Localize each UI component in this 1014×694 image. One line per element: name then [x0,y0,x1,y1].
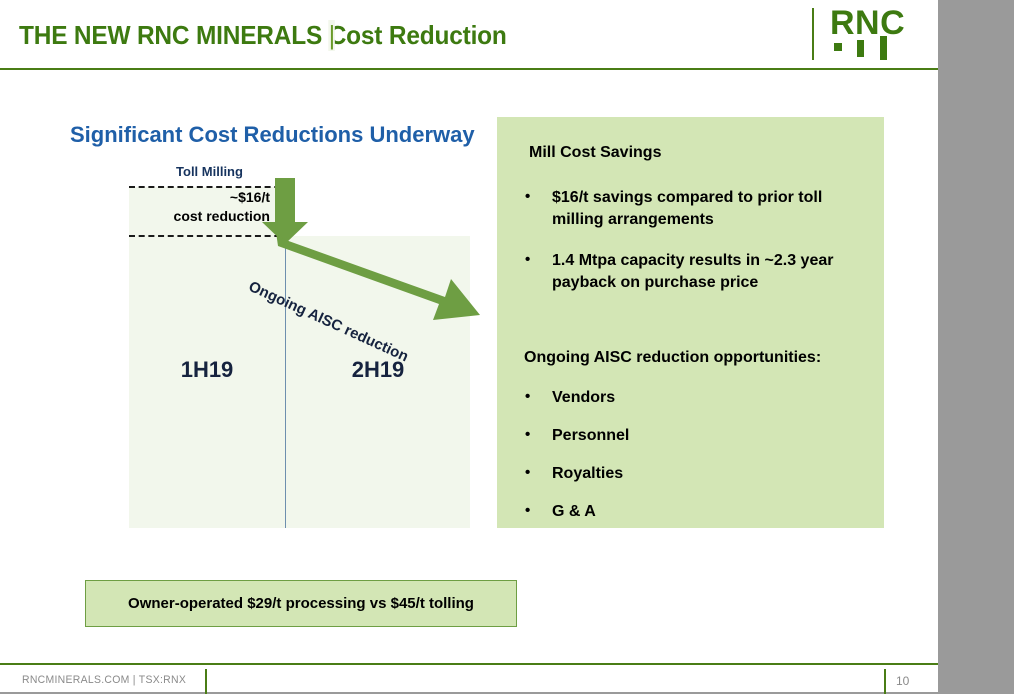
info-panel: Mill Cost Savings • $16/t savings compar… [497,117,884,528]
logo-tick-icon-2 [857,40,864,57]
logo-wordmark: RNC [830,6,905,40]
bullet-marker-icon: • [525,425,552,447]
bullet-marker-icon: • [525,387,552,409]
page-number: 10 [896,674,909,688]
logo-tick-icon-3 [880,36,887,60]
bullet-text: $16/t savings compared to prior toll mil… [552,187,870,231]
bar-label-2h19: 2H19 [286,357,470,383]
bullet-item-personnel: • Personnel [525,425,870,447]
cost-reduction-line-1: ~$16/t [120,188,270,207]
bullet-text: G & A [552,501,596,523]
bullet-item-capacity: • 1.4 Mtpa capacity results in ~2.3 year… [525,250,870,294]
cost-reduction-annotation: ~$16/t cost reduction [120,188,270,226]
logo-tick-icon-1 [834,43,842,51]
cost-reduction-chart: Toll Milling ~$16/t cost reduction Ongoi… [0,0,500,560]
slide: THE NEW RNC MINERALS | Cost Reduction RN… [0,0,938,692]
bullet-item-ga: • G & A [525,501,870,523]
bullet-item-savings: • $16/t savings compared to prior toll m… [525,187,870,231]
footer-divider-right [884,669,886,694]
footer-divider-left [205,669,207,694]
bullet-marker-icon: • [525,501,552,523]
bullet-text: Vendors [552,387,615,409]
bullet-item-vendors: • Vendors [525,387,870,409]
aisc-opportunities-heading: Ongoing AISC reduction opportunities: [524,349,821,367]
bullet-text: 1.4 Mtpa capacity results in ~2.3 year p… [552,250,870,294]
bullet-text: Royalties [552,463,623,485]
bullet-marker-icon: • [525,187,552,231]
mill-cost-savings-heading: Mill Cost Savings [529,144,661,162]
bullet-marker-icon: • [525,250,552,294]
footer-site-text: RNCMINERALS.COM | TSX:RNX [22,674,186,686]
callout-box: Owner-operated $29/t processing vs $45/t… [85,580,517,627]
bar-label-1h19: 1H19 [129,357,285,383]
callout-text: Owner-operated $29/t processing vs $45/t… [128,595,474,612]
toll-milling-label: Toll Milling [129,164,290,179]
slide-footer: RNCMINERALS.COM | TSX:RNX 10 [0,663,938,692]
rnc-logo: RNC [808,0,938,68]
bullet-text: Personnel [552,425,629,447]
bullet-marker-icon: • [525,463,552,485]
logo-divider-rule [812,8,814,60]
cost-reduction-line-2: cost reduction [120,207,270,226]
bullet-item-royalties: • Royalties [525,463,870,485]
